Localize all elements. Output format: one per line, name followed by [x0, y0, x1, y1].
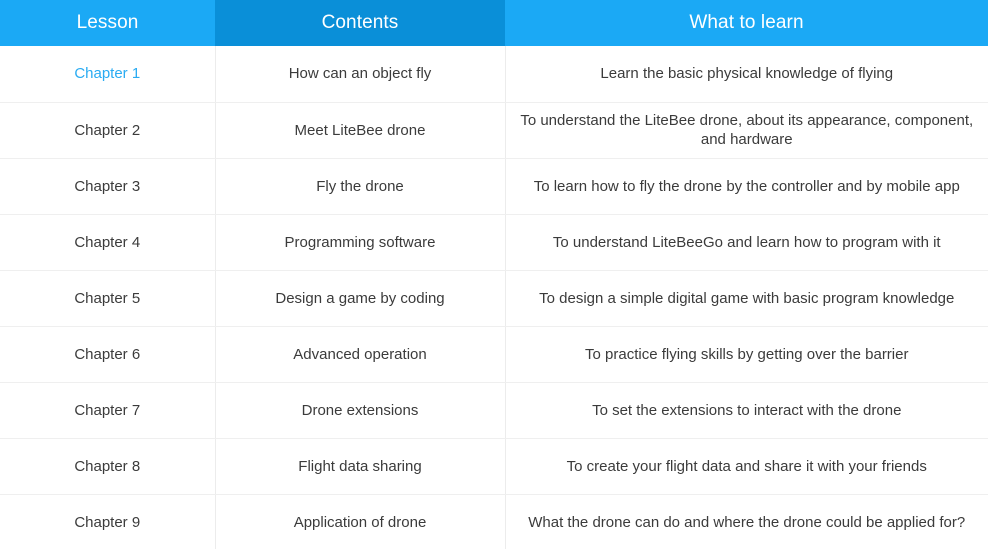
lesson-label: Chapter 4 — [0, 214, 215, 270]
table-header-row: Lesson Contents What to learn — [0, 0, 988, 46]
lesson-link-active[interactable]: Chapter 1 — [0, 46, 215, 102]
table-body: Chapter 1How can an object flyLearn the … — [0, 46, 988, 549]
what-to-learn-label: To design a simple digital game with bas… — [505, 270, 988, 326]
lesson-label: Chapter 7 — [0, 382, 215, 438]
table-row: Chapter 5Design a game by codingTo desig… — [0, 270, 988, 326]
what-to-learn-label: To set the extensions to interact with t… — [505, 382, 988, 438]
column-header-what-to-learn: What to learn — [505, 0, 988, 46]
lesson-label: Chapter 9 — [0, 494, 215, 549]
lesson-label: Chapter 5 — [0, 270, 215, 326]
what-to-learn-label: To learn how to fly the drone by the con… — [505, 158, 988, 214]
table-row: Chapter 2Meet LiteBee droneTo understand… — [0, 102, 988, 158]
column-header-contents: Contents — [215, 0, 505, 46]
table-row: Chapter 4Programming softwareTo understa… — [0, 214, 988, 270]
lesson-label: Chapter 3 — [0, 158, 215, 214]
curriculum-table: Lesson Contents What to learn Chapter 1H… — [0, 0, 988, 549]
lesson-label: Chapter 8 — [0, 438, 215, 494]
table-row: Chapter 6Advanced operationTo practice f… — [0, 326, 988, 382]
contents-label: Drone extensions — [215, 382, 505, 438]
lesson-label: Chapter 6 — [0, 326, 215, 382]
what-to-learn-label: To create your flight data and share it … — [505, 438, 988, 494]
contents-label: Fly the drone — [215, 158, 505, 214]
what-to-learn-label: To understand the LiteBee drone, about i… — [505, 102, 988, 158]
contents-label: Application of drone — [215, 494, 505, 549]
lesson-label: Chapter 2 — [0, 102, 215, 158]
contents-label: Advanced operation — [215, 326, 505, 382]
table-row: Chapter 3Fly the droneTo learn how to fl… — [0, 158, 988, 214]
contents-label: How can an object fly — [215, 46, 505, 102]
column-header-lesson: Lesson — [0, 0, 215, 46]
what-to-learn-label: To practice flying skills by getting ove… — [505, 326, 988, 382]
contents-label: Design a game by coding — [215, 270, 505, 326]
what-to-learn-label: To understand LiteBeeGo and learn how to… — [505, 214, 988, 270]
contents-label: Flight data sharing — [215, 438, 505, 494]
table-row: Chapter 8Flight data sharingTo create yo… — [0, 438, 988, 494]
what-to-learn-label: Learn the basic physical knowledge of fl… — [505, 46, 988, 102]
table-row: Chapter 9Application of droneWhat the dr… — [0, 494, 988, 549]
table-header: Lesson Contents What to learn — [0, 0, 988, 46]
table-row: Chapter 1How can an object flyLearn the … — [0, 46, 988, 102]
contents-label: Meet LiteBee drone — [215, 102, 505, 158]
table-row: Chapter 7Drone extensionsTo set the exte… — [0, 382, 988, 438]
what-to-learn-label: What the drone can do and where the dron… — [505, 494, 988, 549]
contents-label: Programming software — [215, 214, 505, 270]
